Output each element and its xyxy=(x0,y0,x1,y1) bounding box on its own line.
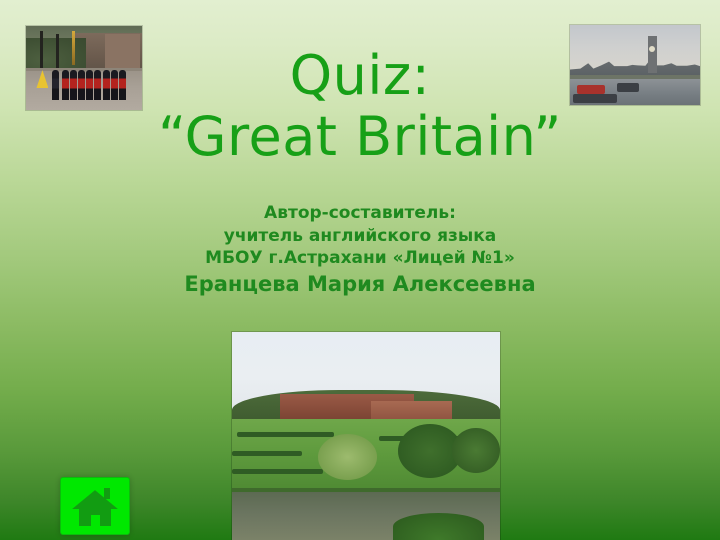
bigben-boat xyxy=(617,83,639,92)
countryside-tree xyxy=(452,428,500,474)
countryside-foreground-bush xyxy=(393,513,484,540)
countryside-hedge xyxy=(232,451,302,456)
home-button[interactable] xyxy=(60,477,130,535)
guards-soldier xyxy=(94,70,101,100)
guards-soldier xyxy=(70,70,77,100)
guards-flagpole xyxy=(72,31,75,65)
credit-line-author-name: Еранцева Мария Алексеевна xyxy=(110,270,610,298)
credit-line-position: учитель английского языка xyxy=(110,225,610,248)
bigben-clock-tower xyxy=(648,36,657,73)
author-credits: Автор-составитель: учитель английского я… xyxy=(110,202,610,298)
credit-line-role: Автор-составитель: xyxy=(110,202,610,225)
guards-soldier xyxy=(78,70,85,100)
english-countryside-photo xyxy=(232,332,500,540)
guards-soldier xyxy=(86,70,93,100)
title-line-1: Quiz: xyxy=(110,48,610,103)
guards-lightpost xyxy=(56,34,59,69)
home-icon-door xyxy=(91,515,100,526)
guards-soldier xyxy=(62,70,69,100)
countryside-hedge xyxy=(237,432,333,437)
countryside-photo-content xyxy=(232,332,500,540)
guards-lightpost xyxy=(40,31,43,70)
presentation-slide: Quiz: “Great Britain” Автор-составитель:… xyxy=(0,0,720,540)
home-icon-chimney xyxy=(104,488,110,499)
guards-soldier xyxy=(52,70,59,100)
countryside-tree xyxy=(318,434,377,480)
title-line-2: “Great Britain” xyxy=(110,109,610,164)
credit-line-school: МБОУ г.Астрахани «Лицей №1» xyxy=(110,247,610,270)
home-icon xyxy=(72,488,118,526)
countryside-manor-wing xyxy=(371,401,451,422)
guards-soldier xyxy=(103,70,110,100)
countryside-hedge xyxy=(232,469,323,474)
slide-title: Quiz: “Great Britain” xyxy=(110,48,610,164)
